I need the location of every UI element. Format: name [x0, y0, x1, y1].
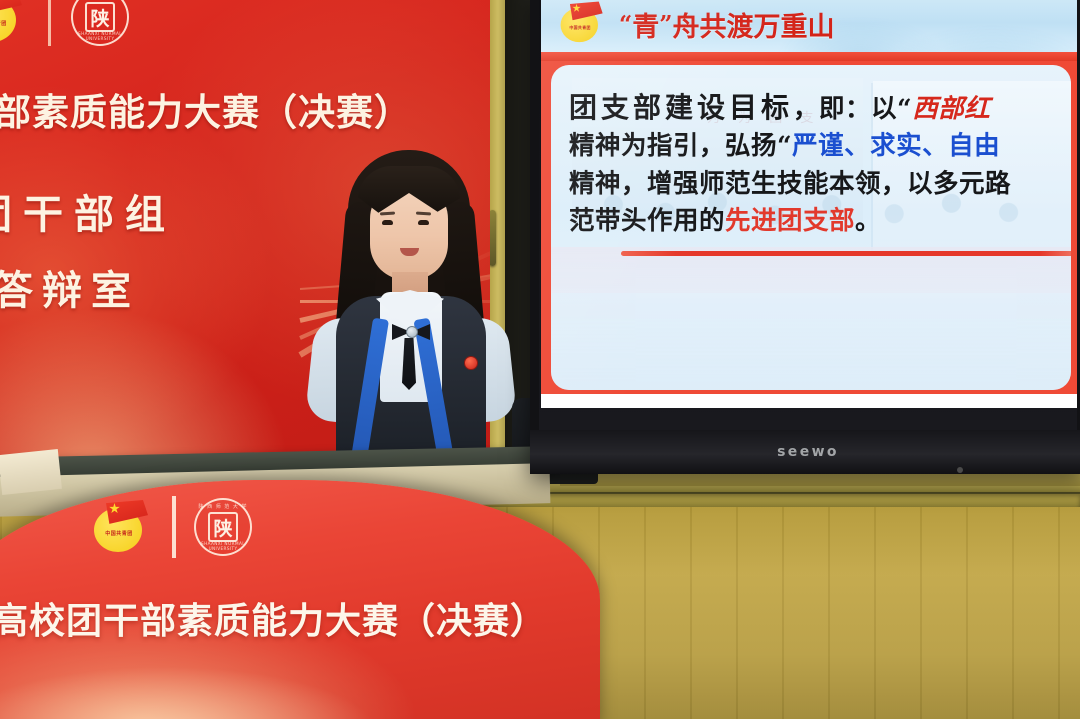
presenter: [296, 150, 526, 480]
bowtie-pin: [406, 326, 418, 338]
university-seal-icon: 陕 西 师 范 大 学 陕 SHAANXI NORMAL UNIVERSITY: [71, 0, 129, 46]
backdrop-logo-row: 中国共青团 陕 西 师 范 大 学 陕 SHAANXI NORMAL UNIVE…: [0, 0, 129, 46]
youth-league-emblem-icon: 中国共青团: [0, 0, 28, 46]
university-seal-icon: 陕 西 师 范 大 学 陕 SHAANXI NORMAL UNIVERSITY: [194, 498, 252, 556]
podium-logo-row: 中国共青团 陕 西 师 范 大 学 陕 SHAANXI NORMAL UNIVE…: [92, 496, 252, 558]
youth-league-emblem-icon: 中国共青团: [92, 498, 154, 556]
display-power-led: [957, 467, 963, 473]
logo-divider: [172, 496, 176, 558]
screenshot-scene: 中国共青团 陕 西 师 范 大 学 陕 SHAANXI NORMAL UNIVE…: [0, 0, 1080, 719]
podium-banner-text: 陕西高校团干部素质能力大赛（决赛）: [0, 592, 558, 644]
seal-character: 陕: [85, 2, 115, 32]
podium-banner: 中国共青团 陕 西 师 范 大 学 陕 SHAANXI NORMAL UNIVE…: [0, 480, 600, 719]
paper-sheet: [0, 449, 62, 495]
eye-right: [418, 220, 429, 225]
backdrop-glow: [0, 308, 290, 468]
eye-left: [382, 220, 393, 225]
necktie: [402, 338, 416, 390]
seal-character: 陕: [208, 512, 238, 542]
league-lapel-pin-icon: [464, 356, 478, 370]
display-brand-label: seewo: [530, 444, 1080, 460]
league-band-text: 中国共青团: [98, 528, 140, 540]
seal-bottom-text: SHAANXI NORMAL UNIVERSITY: [196, 541, 250, 551]
backdrop-title-line-1: 干部素质能力大赛（决赛）: [0, 82, 416, 136]
display-bezel: [530, 0, 1080, 474]
seal-top-text: 陕 西 师 范 大 学: [196, 503, 250, 510]
logo-divider: [48, 0, 51, 46]
league-band-text: 中国共青团: [0, 18, 14, 30]
seal-bottom-text: SHAANXI NORMAL UNIVERSITY: [73, 31, 127, 41]
